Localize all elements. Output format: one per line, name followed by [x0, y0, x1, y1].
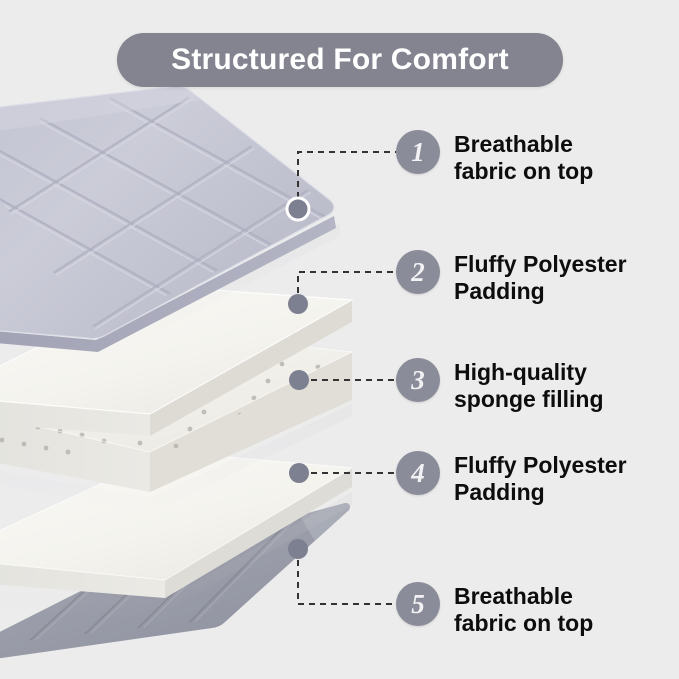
- callout-number-4: 4: [411, 460, 425, 487]
- callout-dot-4: [289, 463, 309, 483]
- callout-item-5: 5 Breathable fabric on top: [396, 582, 593, 637]
- callout-number-1: 1: [411, 139, 425, 166]
- callout-number-2: 2: [411, 259, 425, 286]
- title-pill: Structured For Comfort: [117, 33, 563, 87]
- callout-item-3: 3 High-quality sponge filling: [396, 358, 604, 413]
- callout-label-2: Fluffy Polyester Padding: [454, 250, 627, 305]
- callout-number-5: 5: [411, 591, 425, 618]
- callout-number-badge-1: 1: [396, 130, 440, 174]
- callout-label-5: Breathable fabric on top: [454, 582, 593, 637]
- callout-dot-5: [288, 539, 308, 559]
- callout-label-1: Breathable fabric on top: [454, 130, 593, 185]
- callout-dot-2: [288, 294, 308, 314]
- callout-number-3: 3: [411, 367, 425, 394]
- callout-dot-3: [289, 370, 309, 390]
- callout-connectors: [0, 0, 679, 679]
- page-title: Structured For Comfort: [171, 43, 509, 77]
- callout-item-4: 4 Fluffy Polyester Padding: [396, 451, 627, 506]
- callout-number-badge-5: 5: [396, 582, 440, 626]
- callout-item-1: 1 Breathable fabric on top: [396, 130, 593, 185]
- callout-number-badge-3: 3: [396, 358, 440, 402]
- connector-line-5: [298, 549, 396, 604]
- callout-number-badge-2: 2: [396, 250, 440, 294]
- callout-number-badge-4: 4: [396, 451, 440, 495]
- connector-line-1: [298, 152, 396, 209]
- callout-label-3: High-quality sponge filling: [454, 358, 604, 413]
- callout-item-2: 2 Fluffy Polyester Padding: [396, 250, 627, 305]
- connector-line-2: [298, 272, 396, 304]
- infographic-canvas: Structured For Comfort 1 Breathable fabr…: [0, 0, 679, 679]
- callout-dot-1: [287, 198, 309, 220]
- callout-label-4: Fluffy Polyester Padding: [454, 451, 627, 506]
